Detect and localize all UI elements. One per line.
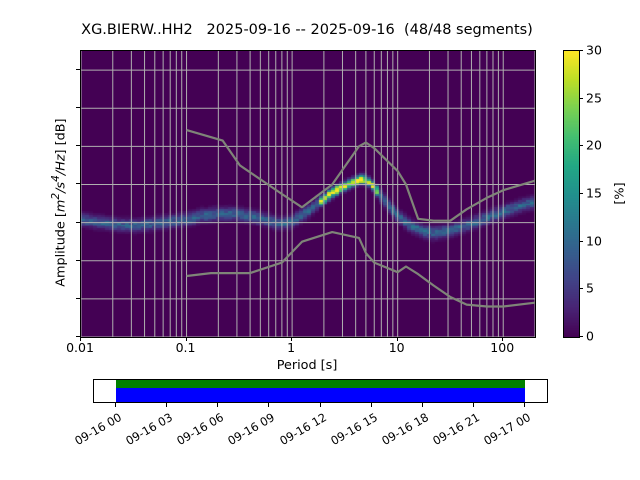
x-axis-tick-label: 1 [287,340,295,355]
noise-model-nlnm [187,232,535,306]
y-axis-tick-mark [76,183,80,184]
timeline-tick-label: 09-16 12 [271,410,328,451]
colorbar-tick-label: 15 [586,186,602,201]
timeline-tick-mark [166,402,167,407]
page-title: XG.BIERW..HH2 2025-09-16 -- 2025-09-16 (… [0,22,614,38]
noise-model-nhnm [187,130,535,221]
y-axis-tick-mark [76,145,80,146]
colorbar-tick-label: 25 [586,90,602,105]
x-axis-tick-mark [186,337,187,341]
x-axis-tick-label: 100 [490,340,514,355]
y-axis-tick-mark [76,107,80,108]
timeline-psd-bar [116,388,525,402]
timeline-tick-label: 09-16 18 [374,410,431,451]
x-axis-label: Period [s] [80,358,534,373]
timeline-tick-mark [422,402,423,407]
timeline-tick-label: 09-17 00 [476,410,533,451]
colorbar-tick-label: 10 [586,233,602,248]
timeline-tick-mark [320,402,321,407]
x-axis-tick-mark [291,337,292,341]
noise-model-curves [81,51,535,337]
timeline-tick-mark [115,402,116,407]
colorbar-tick-label: 20 [586,138,602,153]
psd-figure: XG.BIERW..HH2 2025-09-16 -- 2025-09-16 (… [0,0,640,480]
y-axis-tick-mark [76,260,80,261]
colorbar-tick-mark [579,50,583,51]
timeline-tick-label: 09-16 09 [220,410,277,451]
colorbar-tick-mark [579,288,583,289]
y-axis-label: Amplitude [m2/s4/Hz] [dB] [49,58,68,348]
y-axis-label-text: Amplitude [m2/s4/Hz] [dB] [54,119,69,287]
colorbar-tick-mark [579,336,583,337]
colorbar-tick-mark [579,145,583,146]
timeline-tick-label: 09-16 06 [169,410,226,451]
timeline-tick-label: 09-16 03 [118,410,175,451]
colorbar-tick-mark [579,98,583,99]
colorbar-tick-mark [579,193,583,194]
x-axis-tick-mark [502,337,503,341]
timeline-coverage-axis[interactable] [93,379,548,403]
timeline-data-bar [116,380,525,388]
timeline-tick-mark [473,402,474,407]
colorbar-tick-mark [579,241,583,242]
timeline-tick-label: 09-16 21 [425,410,482,451]
colorbar-tick-label: 30 [586,43,602,58]
x-axis-tick-mark [397,337,398,341]
timeline-tick-mark [268,402,269,407]
psd-plot-area[interactable] [80,50,536,338]
y-axis-tick-mark [76,69,80,70]
x-axis-tick-label: 0.1 [176,340,196,355]
y-axis-tick-mark [76,298,80,299]
timeline-tick-mark [371,402,372,407]
timeline-tick-label: 09-16 00 [67,410,124,451]
colorbar-gradient [564,51,579,337]
timeline-tick-mark [217,402,218,407]
colorbar[interactable] [563,50,580,338]
y-axis-tick-mark [76,222,80,223]
x-axis-tick-label: 10 [389,340,405,355]
colorbar-tick-label: 5 [586,281,594,296]
timeline-tick-mark [524,402,525,407]
colorbar-label: [%] [613,144,628,244]
timeline-tick-label: 09-16 15 [322,410,379,451]
colorbar-tick-label: 0 [586,329,594,344]
x-axis-tick-mark [80,337,81,341]
x-axis-tick-label: 0.01 [66,340,94,355]
